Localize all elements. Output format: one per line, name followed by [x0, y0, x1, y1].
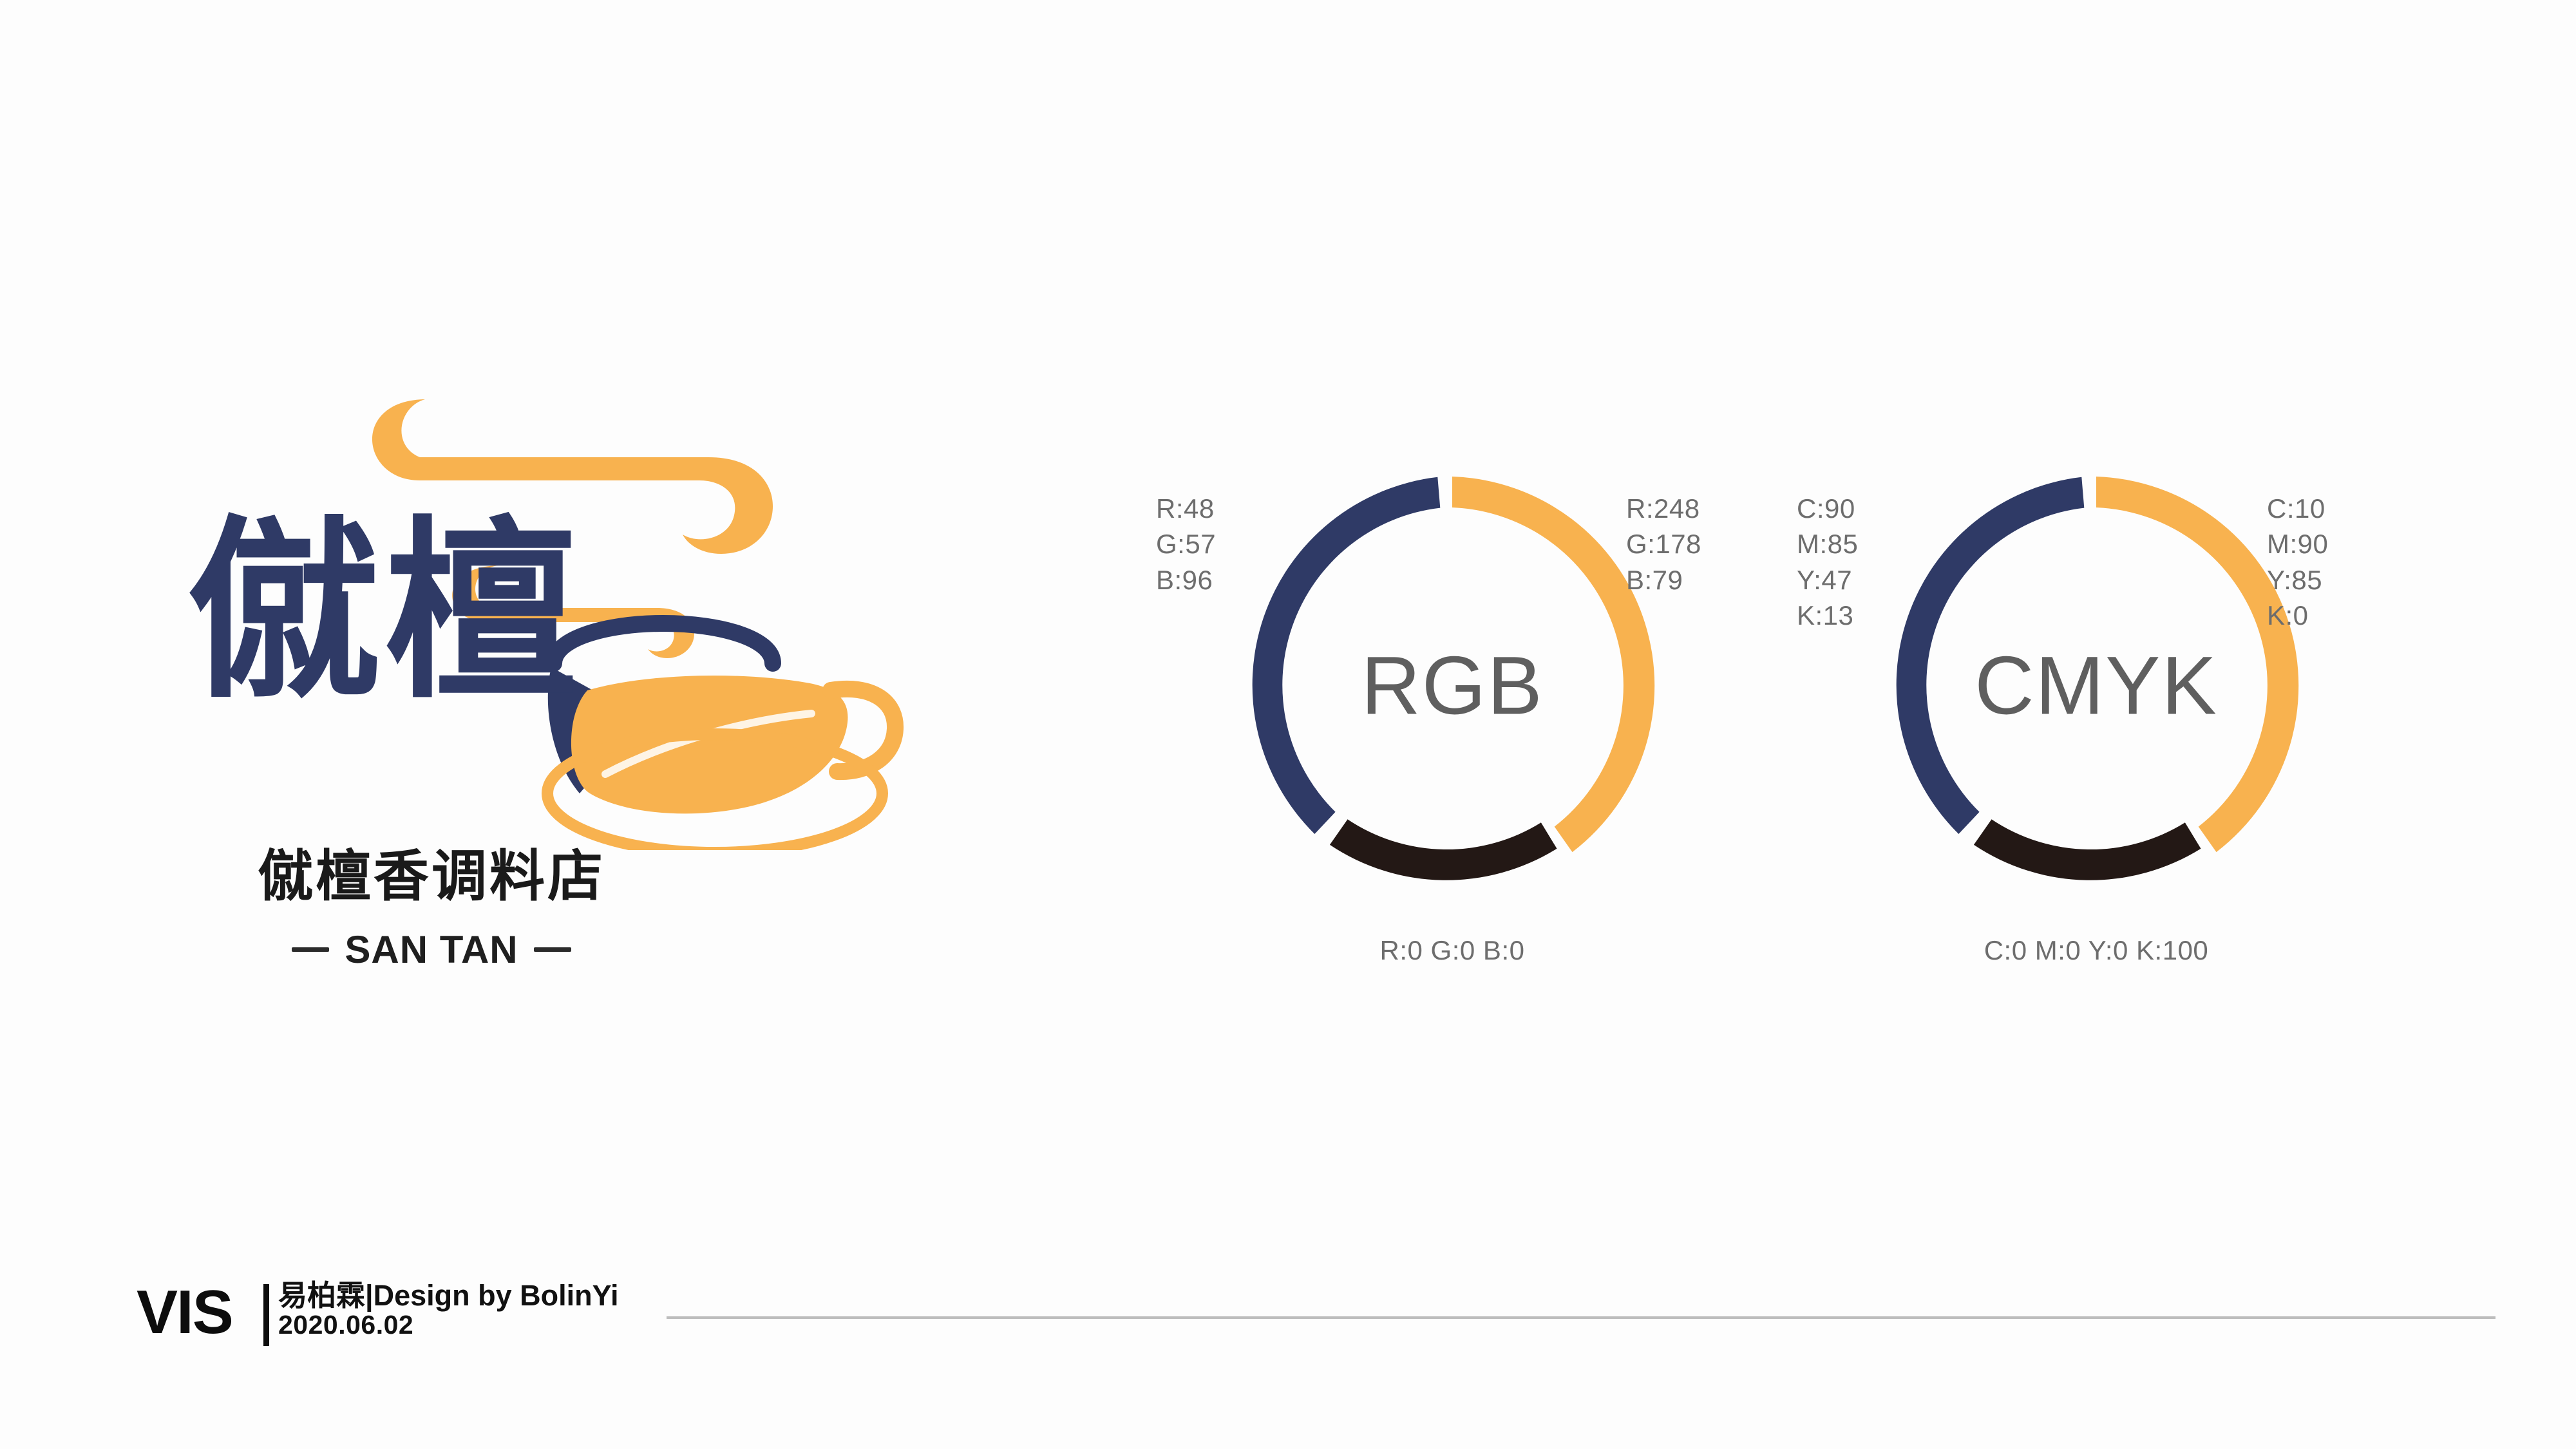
- footer-credit-line: 易柏霖|Design by BolinYi: [278, 1280, 618, 1311]
- brand-romanization: SAN TAN: [345, 927, 518, 972]
- dash-right-decor: [534, 947, 571, 952]
- cmyk-segment-navy: [1897, 477, 2085, 834]
- footer-credit-block: 易柏霖|Design by BolinYi 2020.06.02: [278, 1280, 618, 1340]
- rgb-navy-values: R:48 G:57 B:96: [1156, 491, 1216, 598]
- rgb-donut-svg: [1227, 460, 1678, 911]
- cmyk-black-values: C:0 M:0 Y:0 K:100: [1871, 933, 2322, 968]
- page-footer: VIS 易柏霖|Design by BolinYi 2020.06.02: [0, 1275, 2576, 1404]
- footer-divider: [667, 1316, 2495, 1319]
- footer-pipe-separator: |: [365, 1279, 374, 1312]
- logo-wordmark-chinese: 僦檀: [187, 515, 581, 708]
- rgb-segment-navy: [1253, 477, 1441, 834]
- rgb-black-values: R:0 G:0 B:0: [1227, 933, 1678, 968]
- cmyk-donut-svg: [1871, 460, 2322, 911]
- footer-design-credit: Design by BolinYi: [374, 1279, 619, 1312]
- brand-romanization-row: SAN TAN: [167, 927, 696, 972]
- footer-date: 2020.06.02: [278, 1311, 618, 1340]
- rgb-segment-orange: [1452, 477, 1654, 852]
- cmyk-orange-values: C:10 M:90 Y:85 K:0: [2267, 491, 2328, 634]
- footer-vertical-bar: [263, 1284, 269, 1346]
- footer-vis-label: VIS: [137, 1282, 232, 1343]
- rgb-donut-chart: RGB: [1227, 460, 1678, 911]
- brand-subtitle-chinese: 僦檀香调料店: [167, 831, 696, 911]
- cmyk-navy-values: C:90 M:85 Y:47 K:13: [1797, 491, 1858, 634]
- dash-left-decor: [292, 947, 329, 952]
- rgb-segment-black: [1330, 819, 1557, 880]
- rgb-orange-values: R:248 G:178 B:79: [1626, 491, 1701, 598]
- cmyk-donut-chart: CMYK: [1871, 460, 2322, 911]
- cmyk-segment-black: [1974, 819, 2201, 880]
- footer-designer-cn: 易柏霖: [278, 1279, 365, 1312]
